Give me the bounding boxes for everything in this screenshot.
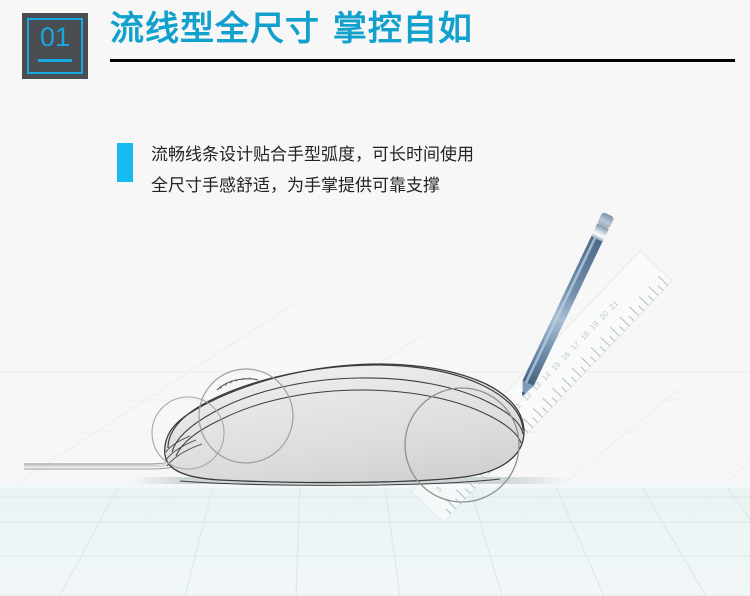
step-badge-frame: 01 (27, 18, 83, 74)
step-badge: 01 (22, 13, 88, 79)
feature-description-text: 流畅线条设计贴合手型弧度，可长时间使用 全尺寸手感舒适，为手掌提供可靠支撑 (151, 140, 474, 202)
backdrop-floor (0, 487, 750, 596)
step-badge-underline (38, 59, 72, 62)
page-title: 流线型全尺寸 掌控自如 (110, 6, 473, 52)
step-badge-number: 01 (29, 22, 81, 52)
feature-banner-page: 3 4 5 6 7 8 9 10 11 12 13 14 15 16 17 18… (0, 0, 750, 596)
accent-marker (117, 143, 133, 182)
description-line-1: 流畅线条设计贴合手型弧度，可长时间使用 (151, 140, 474, 171)
header: 01 流线型全尺寸 掌控自如 (0, 0, 750, 108)
description-line-2: 全尺寸手感舒适，为手掌提供可靠支撑 (151, 171, 474, 202)
title-divider (110, 59, 735, 62)
feature-description: 流畅线条设计贴合手型弧度，可长时间使用 全尺寸手感舒适，为手掌提供可靠支撑 (117, 140, 474, 202)
